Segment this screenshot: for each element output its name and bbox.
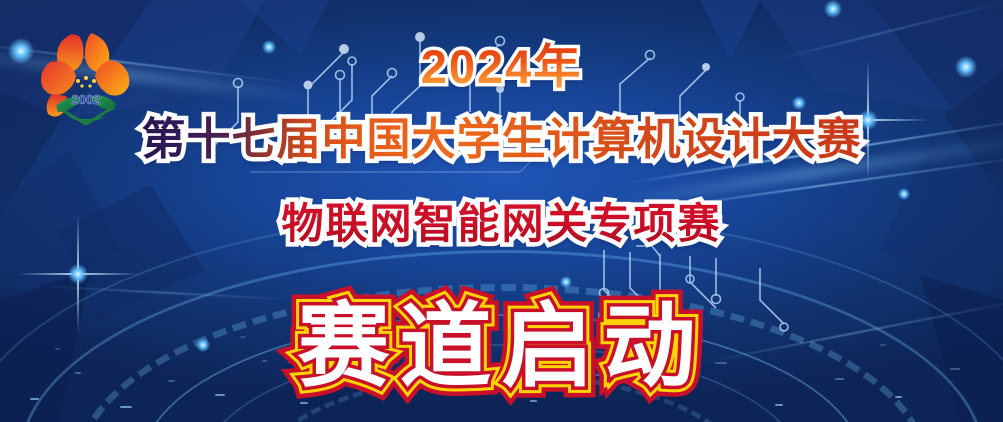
callout-heading: 赛道启动 赛道启动 赛道启动 赛道启动 <box>0 272 1003 405</box>
promo-banner: 2002 2024年 2024年 第十七届中国大学生计算机设计大赛 第十七届中国… <box>0 0 1003 422</box>
subtitle-fill: 物联网智能网关专项赛 <box>281 200 721 247</box>
main-title: 第十七届中国大学生计算机设计大赛 第十七届中国大学生计算机设计大赛 <box>0 103 1003 167</box>
year-heading: 2024年 2024年 <box>0 28 1003 97</box>
callout-fill: 赛道启动 <box>297 296 705 398</box>
main-title-fill: 第十七届中国大学生计算机设计大赛 <box>142 115 862 164</box>
headline-block: 2024年 2024年 第十七届中国大学生计算机设计大赛 第十七届中国大学生计算… <box>0 0 1003 422</box>
year-heading-fill: 2024年 <box>421 40 583 93</box>
subtitle: 物联网智能网关专项赛 物联网智能网关专项赛 <box>0 190 1003 251</box>
